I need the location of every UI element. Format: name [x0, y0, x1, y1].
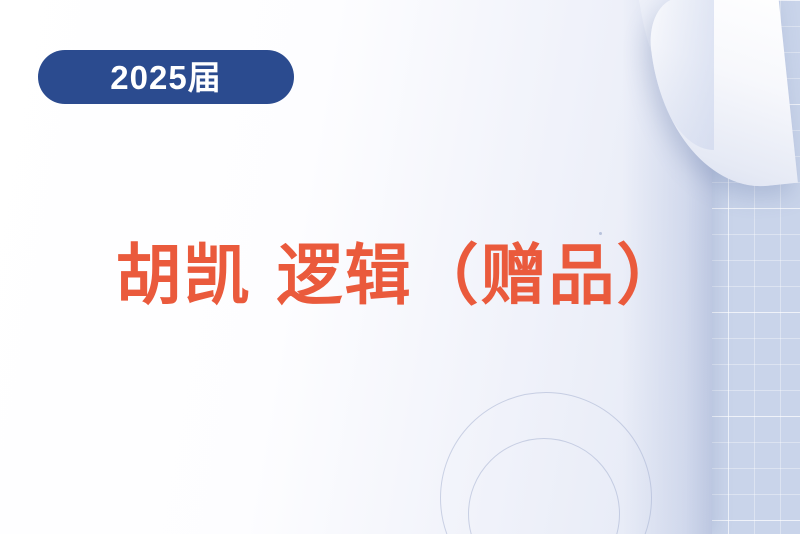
decorative-circle-large: [440, 392, 652, 534]
page-title: 胡凯 逻辑（赠品）: [0, 243, 800, 309]
year-badge-label: 2025届: [110, 61, 221, 94]
decorative-circle-small: [468, 438, 620, 534]
decorative-dot: [599, 232, 602, 235]
poster-canvas: 2025届 胡凯 逻辑（赠品）: [0, 0, 800, 534]
year-badge: 2025届: [38, 50, 294, 104]
